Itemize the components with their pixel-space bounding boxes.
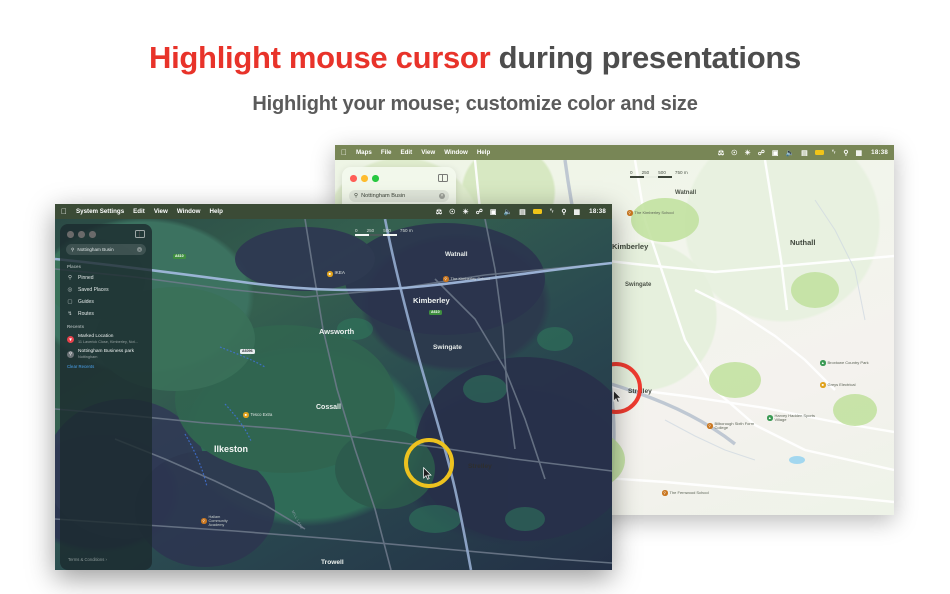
search-icon: ⚲ [71,247,74,253]
routes-icon: ↯ [67,311,73,317]
apple-menu-icon[interactable]:  [341,149,347,157]
vpn-icon[interactable]: ☉ [731,149,737,157]
poi-broxtowe-country-park[interactable]: ▲ Broxtowe Country Park [820,360,869,366]
bluetooth-icon[interactable]: ⚖ [718,149,724,157]
recent-subtitle: Nottingham [78,355,134,359]
map-label-ilkeston: Ilkeston [214,444,248,454]
search-input-back[interactable]: ⚲ Nottingham Busin × [349,190,449,202]
minimize-button[interactable] [361,175,368,182]
recent-subtitle: 11 Laverick Close, Kimberley, Not... [78,340,138,344]
sidebar-item-label: Routes [78,311,94,317]
menu-item-window[interactable]: Window [444,149,468,156]
search-history-icon: ⚲ [67,351,74,358]
saved-places-icon: ◎ [67,287,73,293]
zoom-button[interactable] [89,231,96,238]
recent-item-nottingham-business-park[interactable]: ⚲ Nottingham Business park Nottingham [67,348,149,360]
map-label-kimberley: Kimberley [413,296,450,305]
menu-item-app[interactable]: Maps [356,149,372,156]
display-icon[interactable]: ▤ [519,208,526,216]
map-label-watnall: Watnall [675,190,696,196]
maps-sidebar-dark[interactable]: ⚲ Nottingham Busin × Places ⚲ Pinned ◎ S… [60,224,152,570]
maps-window-dark[interactable]:  System Settings Edit View Window Help … [55,204,612,570]
menu-item-view[interactable]: View [154,208,168,215]
poi-fernwood-school[interactable]: ⚲ The Fernwood School [662,490,709,496]
menu-item-window[interactable]: Window [177,208,201,215]
menu-item-edit[interactable]: Edit [401,149,413,156]
recent-item-marked-location[interactable]: ▼ Marked Location 11 Laverick Close, Kim… [67,333,149,345]
clear-recents-button[interactable]: Clear Recents [67,364,94,369]
menu-item-help[interactable]: Help [477,149,490,156]
scale-tick-0: 0 [355,228,358,233]
sports-icon: ▲ [767,415,773,421]
sidebar-section-places: Places [67,264,81,269]
menubar-back[interactable]:  Maps File Edit View Window Help ⚖ ☉ ☀ … [335,145,894,160]
scale-tick-3: 750 m [675,170,688,175]
guides-icon: ▢ [67,299,73,305]
sidebar-item-pinned[interactable]: ⚲ Pinned [67,272,147,283]
pin-icon: ⚲ [67,275,73,281]
scale-bar-graphic [355,234,413,236]
terms-and-conditions-link[interactable]: Terms & Conditions › [68,557,107,562]
road-shield-a6096: A6096 [240,349,255,354]
map-label-swingate: Swingate [433,344,462,351]
store-icon: ■ [327,271,333,277]
minimize-button[interactable] [78,231,85,238]
headline-rest: during presentations [490,40,801,75]
control-center-icon[interactable]: ▦ [574,208,581,216]
scale-bar-light: 0 250 500 750 m [630,170,688,178]
menu-item-view[interactable]: View [421,149,435,156]
menu-item-file[interactable]: File [381,149,392,156]
school-icon: ⚲ [627,210,633,216]
menubar-front[interactable]:  System Settings Edit View Window Help … [55,204,612,219]
search-icon: ⚲ [354,193,358,199]
scale-bar-graphic [630,176,688,178]
scale-tick-1: 250 [642,170,650,175]
clear-icon[interactable]: × [137,247,142,252]
road-shield-a610-left: A610 [173,254,186,259]
road-name-mill-lane: MILL LANE [291,510,304,530]
close-button[interactable] [67,231,74,238]
map-label-strelley: Strelley [468,463,492,470]
apple-menu-icon[interactable]:  [61,208,67,216]
dropbox-icon[interactable]: ☀ [462,208,468,216]
poi-ikea[interactable]: ■ IKEA [327,271,345,277]
menu-item-app[interactable]: System Settings [76,208,124,215]
map-label-trowell: Trowell [321,559,344,566]
display-icon[interactable]: ▤ [801,149,808,157]
dropbox-icon[interactable]: ☀ [744,149,750,157]
school-icon: ⚲ [443,276,449,282]
sidebar-section-recents: Recents [67,324,84,329]
screen-icon[interactable]: ▣ [490,208,497,216]
scale-labels: 0 250 500 750 m [355,228,413,233]
sidebar-toggle-icon[interactable] [135,230,145,238]
page-root: Highlight mouse cursor during presentati… [0,0,950,594]
scale-tick-3: 750 m [400,228,413,233]
zoom-button[interactable] [372,175,379,182]
battery-icon[interactable] [533,209,542,214]
store-icon: ■ [820,382,826,388]
menubar-status-icons[interactable]: ⚖ ☉ ☀ ☍ ▣ 🔈 ▤ ␋ ⚲ ▦ [436,208,580,216]
wifi-icon[interactable]: ␋ [831,149,837,157]
menu-item-edit[interactable]: Edit [133,208,145,215]
menubar-clock[interactable]: 18:38 [871,149,888,156]
map-label-kimberley: Kimberley [612,242,648,251]
volume-icon[interactable]: 🔈 [785,149,794,157]
airdrop-icon[interactable]: ☍ [476,208,483,216]
map-pin-icon: ▼ [67,336,74,343]
poi-kimberley-school[interactable]: ⚲ The Kimberley School [443,276,490,282]
poi-bilborough-college[interactable]: ⚲ Bilborough Sixth Form College [707,422,759,430]
map-label-nuthall: Nuthall [790,238,815,247]
control-center-icon[interactable]: ▦ [856,149,863,157]
airdrop-icon[interactable]: ☍ [758,149,765,157]
page-title: Highlight mouse cursor during presentati… [0,40,950,76]
sidebar-item-guides[interactable]: ▢ Guides [67,296,147,307]
store-icon: ■ [243,412,249,418]
menu-item-help[interactable]: Help [209,208,222,215]
sidebar-toggle-icon[interactable] [438,174,448,182]
search-value: Nottingham Busin [361,193,405,199]
scale-labels: 0 250 500 750 m [630,170,688,175]
school-icon: ⚲ [201,518,207,524]
poi-greys-electrical[interactable]: ■ Greys Electrical [820,382,856,388]
search-icon[interactable]: ⚲ [561,208,566,216]
search-input-front[interactable]: ⚲ Nottingham Busin × [66,244,146,255]
traffic-lights-back[interactable] [350,175,379,182]
screen-icon[interactable]: ▣ [772,149,779,157]
search-value: Nottingham Busin [77,247,113,252]
close-button[interactable] [350,175,357,182]
school-icon: ⚲ [662,490,668,496]
poi-hallam-community-academy[interactable]: ⚲ Hallam Community Academy [201,515,235,527]
cursor-highlight-ring-yellow [404,438,454,488]
sidebar-item-label: Saved Places [78,287,109,293]
sidebar-item-routes[interactable]: ↯ Routes [67,308,147,319]
bluetooth-icon[interactable]: ⚖ [436,208,442,216]
headline-accent: Highlight mouse cursor [149,40,490,75]
search-icon[interactable]: ⚲ [843,149,848,157]
volume-icon[interactable]: 🔈 [503,208,512,216]
poi-harvey-hadden[interactable]: ▲ Harvey Hadden Sports Village [767,414,819,422]
poi-kimberley-school[interactable]: ⚲ The Kimberley School [627,210,674,216]
sidebar-item-label: Pinned [78,275,94,281]
sidebar-item-saved-places[interactable]: ◎ Saved Places [67,284,147,295]
menubar-status-icons[interactable]: ⚖ ☉ ☀ ☍ ▣ 🔈 ▤ ␋ ⚲ ▦ [718,149,862,157]
scale-tick-2: 500 [658,170,666,175]
school-icon: ⚲ [707,423,713,429]
map-label-watnall: Watnall [445,251,468,258]
wifi-icon[interactable]: ␋ [549,208,555,216]
sidebar-item-label: Guides [78,299,94,305]
battery-icon[interactable] [815,150,824,155]
park-icon: ▲ [820,360,826,366]
poi-tesco-extra[interactable]: ■ Tesco Extra [243,412,272,418]
road-shield-a610-right: A610 [429,310,442,315]
menubar-clock[interactable]: 18:38 [589,208,606,215]
clear-icon[interactable]: × [439,193,445,199]
map-label-swingate: Swingate [625,282,651,288]
scale-tick-1: 250 [367,228,375,233]
scale-tick-2: 500 [383,228,391,233]
map-label-cossall: Cossall [316,404,341,411]
page-subtitle: Highlight your mouse; customize color an… [0,93,950,116]
map-label-awsworth: Awsworth [319,327,354,336]
map-canvas-dark[interactable]: ⚲ Nottingham Busin × Places ⚲ Pinned ◎ S… [55,219,612,570]
traffic-lights-front[interactable] [67,231,96,238]
scale-bar-dark: 0 250 500 750 m [355,228,413,236]
scale-tick-0: 0 [630,170,633,175]
vpn-icon[interactable]: ☉ [449,208,455,216]
recent-title: Nottingham Business park [78,349,134,354]
